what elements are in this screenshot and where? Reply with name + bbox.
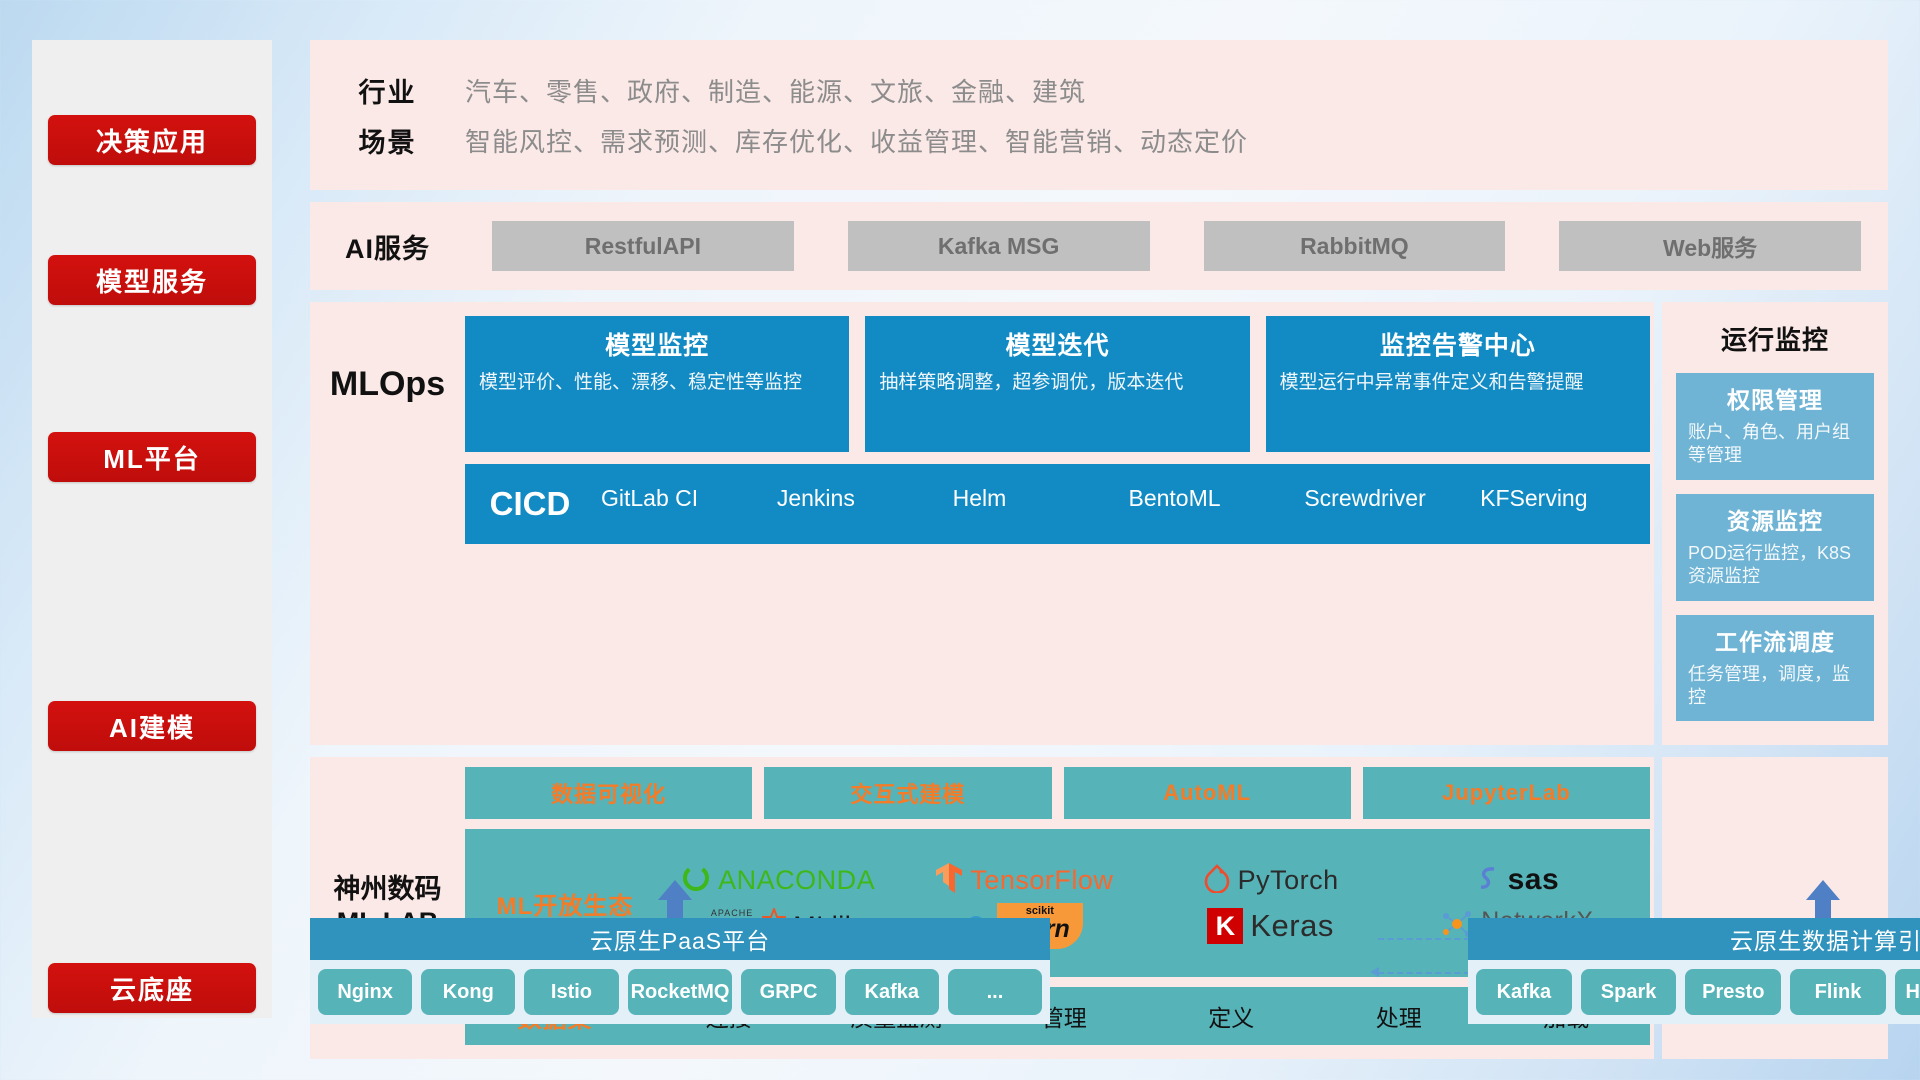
industry-value: 汽车、零售、政府、制造、能源、文旅、金融、建筑: [465, 72, 1086, 109]
industry-key: 行业: [310, 71, 465, 110]
ai-service-list: RestfulAPI Kafka MSG RabbitMQ Web服务: [465, 221, 1888, 271]
rail-item-model-service[interactable]: 模型服务: [48, 255, 256, 305]
rail-item-label: 模型服务: [96, 262, 208, 299]
compute-engine-title: 云原生数据计算引擎: [1468, 918, 1920, 960]
industry-scenario-band: 行业 汽车、零售、政府、制造、能源、文旅、金融、建筑 场景 智能风控、需求预测、…: [310, 40, 1888, 190]
cicd-item-helm[interactable]: Helm: [947, 464, 1123, 511]
cicd-title: CICD: [465, 464, 595, 544]
rail-item-ml-platform[interactable]: ML平台: [48, 432, 256, 482]
mlops-card-title: 模型迭代: [879, 326, 1235, 362]
tool-interactive-modeling[interactable]: 交互式建模: [764, 767, 1051, 819]
paas-chip-grpc[interactable]: GRPC: [741, 969, 835, 1015]
monitoring-card-permission[interactable]: 权限管理 账户、角色、用户组等管理: [1676, 373, 1874, 480]
compute-chip-spark[interactable]: Spark: [1581, 969, 1677, 1015]
rail-item-decision-app[interactable]: 决策应用: [48, 115, 256, 165]
mlops-card-list: 模型监控 模型评价、性能、漂移、稳定性等监控 模型迭代 抽样策略调整，超参调优，…: [465, 316, 1654, 452]
paas-chip-list: Nginx Kong Istio RocketMQ GRPC Kafka ...: [310, 960, 1050, 1024]
scenario-row: 场景 智能风控、需求预测、库存优化、收益管理、智能营销、动态定价: [310, 115, 1888, 165]
mlops-band: MLOps 模型监控 模型评价、性能、漂移、稳定性等监控 模型迭代 抽样策略调整…: [310, 302, 1654, 745]
monitoring-card-title: 权限管理: [1688, 381, 1862, 415]
paas-chip-kong[interactable]: Kong: [421, 969, 515, 1015]
rail-item-label: 云底座: [110, 970, 194, 1007]
scenario-key: 场景: [310, 121, 465, 160]
rail-item-label: ML平台: [103, 439, 201, 476]
cicd-item-kfserving[interactable]: KFServing: [1474, 464, 1650, 511]
mlops-card-alert-center[interactable]: 监控告警中心 模型运行中异常事件定义和告警提醒: [1266, 316, 1650, 452]
cicd-item-list: GitLab CI Jenkins Helm BentoML Screwdriv…: [595, 464, 1650, 511]
band-divider: [310, 190, 1888, 202]
compute-chip-presto[interactable]: Presto: [1685, 969, 1781, 1015]
cicd-item-screwdriver[interactable]: Screwdriver: [1298, 464, 1474, 511]
cicd-item-bentoml[interactable]: BentoML: [1122, 464, 1298, 511]
ai-service-item-web-service[interactable]: Web服务: [1559, 221, 1861, 271]
monitoring-card-title: 资源监控: [1688, 502, 1862, 536]
cicd-item-gitlab-ci[interactable]: GitLab CI: [595, 464, 771, 511]
monitoring-card-resource[interactable]: 资源监控 POD运行监控，K8S资源监控: [1676, 494, 1874, 601]
compute-chip-hadoop[interactable]: Hadoop: [1895, 969, 1920, 1015]
cloud-base-section: 云原生PaaS平台 Nginx Kong Istio RocketMQ GRPC…: [310, 880, 1888, 1040]
link-arrow-left-icon: [1370, 967, 1379, 977]
monitoring-card-title: 工作流调度: [1688, 623, 1862, 657]
link-line-forward: [1378, 938, 1470, 940]
rail-item-cloud-base[interactable]: 云底座: [48, 963, 256, 1013]
mlops-card-title: 模型监控: [479, 326, 835, 362]
monitoring-card-desc: 账户、角色、用户组等管理: [1688, 421, 1862, 468]
monitoring-title: 运行监控: [1676, 320, 1874, 357]
paas-platform-title: 云原生PaaS平台: [310, 918, 1050, 960]
arrow-up-compute-icon: [1806, 880, 1840, 900]
compute-chip-kafka[interactable]: Kafka: [1476, 969, 1572, 1015]
mlops-card-model-iteration[interactable]: 模型迭代 抽样策略调整，超参调优，版本迭代: [865, 316, 1249, 452]
mlops-card-model-monitoring[interactable]: 模型监控 模型评价、性能、漂移、稳定性等监控: [465, 316, 849, 452]
monitoring-card-workflow[interactable]: 工作流调度 任务管理，调度，监控: [1676, 615, 1874, 722]
arrow-up-paas-icon: [658, 880, 692, 900]
ai-service-key: AI服务: [310, 227, 465, 266]
band-divider: [310, 290, 1888, 302]
ai-service-item-rabbitmq[interactable]: RabbitMQ: [1204, 221, 1506, 271]
paas-chip-istio[interactable]: Istio: [524, 969, 618, 1015]
tool-automl[interactable]: AutoML: [1064, 767, 1351, 819]
monitoring-panel: 运行监控 权限管理 账户、角色、用户组等管理 资源监控 POD运行监控，K8S资…: [1662, 302, 1888, 745]
monitoring-card-desc: POD运行监控，K8S资源监控: [1688, 542, 1862, 589]
paas-chip-rocketmq[interactable]: RocketMQ: [628, 969, 733, 1015]
mlops-and-monitoring-row: MLOps 模型监控 模型评价、性能、漂移、稳定性等监控 模型迭代 抽样策略调整…: [310, 302, 1888, 745]
cicd-item-jenkins[interactable]: Jenkins: [771, 464, 947, 511]
paas-platform-block: 云原生PaaS平台 Nginx Kong Istio RocketMQ GRPC…: [310, 918, 1050, 1024]
rail-item-label: 决策应用: [96, 122, 208, 159]
mlops-key: MLOps: [310, 316, 465, 452]
link-line-backward: [1378, 972, 1470, 974]
mlops-card-title: 监控告警中心: [1280, 326, 1636, 362]
ai-service-item-restfulapi[interactable]: RestfulAPI: [492, 221, 794, 271]
compute-chip-flink[interactable]: Flink: [1790, 969, 1886, 1015]
band-divider: [310, 745, 1888, 757]
monitoring-card-desc: 任务管理，调度，监控: [1688, 663, 1862, 710]
mlops-card-desc: 抽样策略调整，超参调优，版本迭代: [879, 370, 1235, 395]
tool-data-visualization[interactable]: 数据可视化: [465, 767, 752, 819]
rail-item-ai-modeling[interactable]: AI建模: [48, 701, 256, 751]
paas-chip-more[interactable]: ...: [948, 969, 1042, 1015]
compute-chip-list: Kafka Spark Presto Flink Hadoop Storm ..…: [1468, 960, 1920, 1024]
scenario-value: 智能风控、需求预测、库存优化、收益管理、智能营销、动态定价: [465, 122, 1248, 159]
tool-jupyterlab[interactable]: JupyterLab: [1363, 767, 1650, 819]
compute-engine-block: 云原生数据计算引擎 Kafka Spark Presto Flink Hadoo…: [1468, 918, 1920, 1024]
industry-row: 行业 汽车、零售、政府、制造、能源、文旅、金融、建筑: [310, 65, 1888, 115]
cicd-row: CICD GitLab CI Jenkins Helm BentoML Scre…: [465, 464, 1650, 544]
ai-service-item-kafka-msg[interactable]: Kafka MSG: [848, 221, 1150, 271]
left-rail: 决策应用 模型服务 ML平台 AI建模 云底座: [32, 40, 272, 1018]
paas-chip-kafka[interactable]: Kafka: [845, 969, 939, 1015]
rail-item-label: AI建模: [109, 708, 195, 745]
ai-service-band: AI服务 RestfulAPI Kafka MSG RabbitMQ Web服务: [310, 202, 1888, 290]
paas-chip-nginx[interactable]: Nginx: [318, 969, 412, 1015]
ml-lab-tools-row: 数据可视化 交互式建模 AutoML JupyterLab: [465, 767, 1650, 819]
mlops-card-desc: 模型运行中异常事件定义和告警提醒: [1280, 370, 1636, 395]
mlops-card-desc: 模型评价、性能、漂移、稳定性等监控: [479, 370, 835, 395]
